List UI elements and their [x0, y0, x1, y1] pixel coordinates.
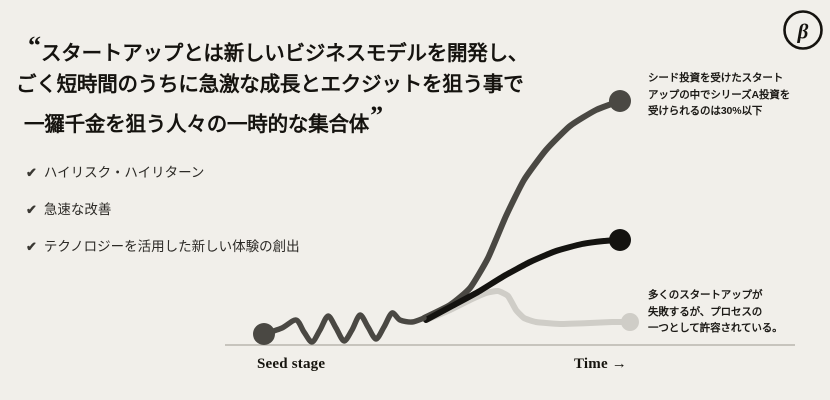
- slide-canvas: β “スタートアップとは新しいビジネスモデルを開発し、 ごく短時間のうちに急激な…: [0, 0, 830, 400]
- axis-label-seed-stage: Seed stage: [257, 356, 325, 373]
- failure-end-marker: [621, 313, 639, 331]
- annotation-failure-line-3: 一つとして許容されている。: [648, 320, 783, 337]
- list-item-label: 急速な改善: [44, 200, 112, 219]
- quote-line-1: “スタートアップとは新しいビジネスモデルを開発し、: [28, 30, 548, 69]
- quote-line-3: 一玀千金を狙う人々の一時的な集合体”: [24, 100, 548, 140]
- list-item: ✔ テクノロジーを活用した新しい体験の創出: [26, 237, 426, 256]
- seed-start-marker: [253, 323, 275, 345]
- hypergrowth-end-marker: [609, 90, 631, 112]
- annotation-failure-line-2: 失敗するが、プロセスの: [648, 304, 783, 321]
- list-item-label: テクノロジーを活用した新しい体験の創出: [44, 237, 300, 256]
- series-line-seed-stem: [264, 313, 424, 342]
- check-icon: ✔: [26, 237, 37, 256]
- annotation-hypergrowth-prefix: 受けられるのは: [648, 105, 721, 117]
- annotation-hypergrowth-stat: 30%以下: [721, 105, 763, 117]
- check-icon: ✔: [26, 200, 37, 219]
- annotation-hypergrowth-line-3: 受けられるのは30%以下: [648, 103, 790, 120]
- annotation-hypergrowth: シード投資を受けたスタート アップの中でシリーズA投資を 受けられるのは30%以…: [648, 70, 790, 120]
- feature-bullet-list: ✔ ハイリスク・ハイリターン ✔ 急速な改善 ✔ テクノロジーを活用した新しい体…: [26, 163, 426, 274]
- list-item: ✔ 急速な改善: [26, 200, 426, 219]
- beta-glyph: β: [797, 20, 809, 44]
- quote-block: “スタートアップとは新しいビジネスモデルを開発し、 ごく短時間のうちに急激な成長…: [28, 30, 548, 140]
- annotation-hypergrowth-line-1: シード投資を受けたスタート: [648, 70, 790, 87]
- quote-line-1-text: スタートアップとは新しいビジネスモデルを開発し、: [41, 42, 528, 65]
- list-item-label: ハイリスク・ハイリターン: [44, 163, 205, 182]
- list-item: ✔ ハイリスク・ハイリターン: [26, 163, 426, 182]
- beta-circle-icon: β: [782, 9, 824, 51]
- quote-close-mark: ”: [370, 101, 383, 130]
- annotation-hypergrowth-line-2: アップの中でシリーズA投資を: [648, 87, 790, 104]
- quote-line-3-text: 一玀千金を狙う人々の一時的な集合体: [24, 113, 369, 136]
- check-icon: ✔: [26, 163, 37, 182]
- series-line-steady: [426, 240, 620, 320]
- quote-open-mark: “: [28, 31, 41, 60]
- quote-line-2: ごく短時間のうちに急激な成長とエクジットを狙う事で: [16, 69, 548, 100]
- annotation-failure-line-1: 多くのスタートアップが: [648, 287, 783, 304]
- series-line-failure: [426, 291, 630, 324]
- steady-end-marker: [609, 229, 631, 251]
- beta-logo-badge: β: [782, 9, 824, 51]
- axis-label-time: Time →: [574, 356, 627, 373]
- annotation-failure: 多くのスタートアップが 失敗するが、プロセスの 一つとして許容されている。: [648, 287, 783, 337]
